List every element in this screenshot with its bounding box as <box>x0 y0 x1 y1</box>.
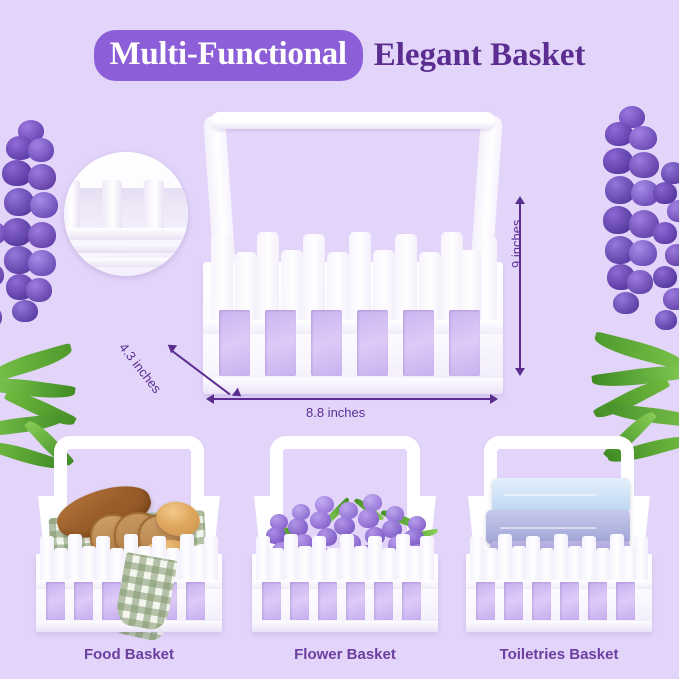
page-title: Multi-Functional Elegant Basket <box>0 30 679 81</box>
flower-basket-opening <box>374 582 393 620</box>
food-basket-opening <box>186 582 205 620</box>
dimension-height-label: 9 inches <box>509 220 524 268</box>
food-basket-opening <box>46 582 65 620</box>
basket-opening <box>403 310 434 376</box>
toiletries-basket-caption: Toiletries Basket <box>449 646 669 663</box>
basket-opening <box>449 310 480 376</box>
toiletries-basket-opening <box>476 582 495 620</box>
closeup-inset <box>64 152 188 276</box>
inset-rail-mid <box>64 244 188 253</box>
main-basket <box>203 112 503 394</box>
toiletries-basket-body <box>466 554 652 632</box>
basket-base <box>203 378 503 394</box>
basket-handle-bar <box>211 112 495 129</box>
toiletries-basket-opening <box>588 582 607 620</box>
dimension-depth-label: 4.3 inches <box>116 340 164 396</box>
inset-rail-bottom <box>64 258 188 267</box>
towel-light-blue <box>492 478 630 512</box>
product-infographic: Multi-Functional Elegant Basket <box>0 0 679 679</box>
toiletries-basket-opening <box>616 582 635 620</box>
flower-basket-opening <box>290 582 309 620</box>
inset-rail-top <box>64 228 188 240</box>
toiletries-basket-opening <box>560 582 579 620</box>
flower-basket-base <box>252 621 438 632</box>
flower-basket-opening <box>346 582 365 620</box>
toiletries-basket <box>466 436 652 632</box>
dimension-width-label: 8.8 inches <box>306 405 365 420</box>
flower-basket-opening <box>318 582 337 620</box>
title-rest: Elegant Basket <box>369 39 586 72</box>
basket-body <box>203 262 503 394</box>
food-basket-opening <box>74 582 93 620</box>
basket-opening <box>311 310 342 376</box>
flower-basket-body <box>252 554 438 632</box>
food-basket <box>36 436 222 632</box>
flower-basket <box>252 436 438 632</box>
toiletries-basket-base <box>466 621 652 632</box>
flower-basket-opening <box>262 582 281 620</box>
basket-opening <box>265 310 296 376</box>
inset-fence <box>64 180 188 234</box>
title-badge: Multi-Functional <box>94 30 363 81</box>
toiletries-basket-opening <box>504 582 523 620</box>
food-basket-caption: Food Basket <box>19 646 239 663</box>
right-lavender-plant <box>561 104 679 464</box>
flower-basket-caption: Flower Basket <box>235 646 455 663</box>
basket-opening <box>357 310 388 376</box>
flower-basket-opening <box>402 582 421 620</box>
basket-opening <box>219 310 250 376</box>
toiletries-basket-opening <box>532 582 551 620</box>
